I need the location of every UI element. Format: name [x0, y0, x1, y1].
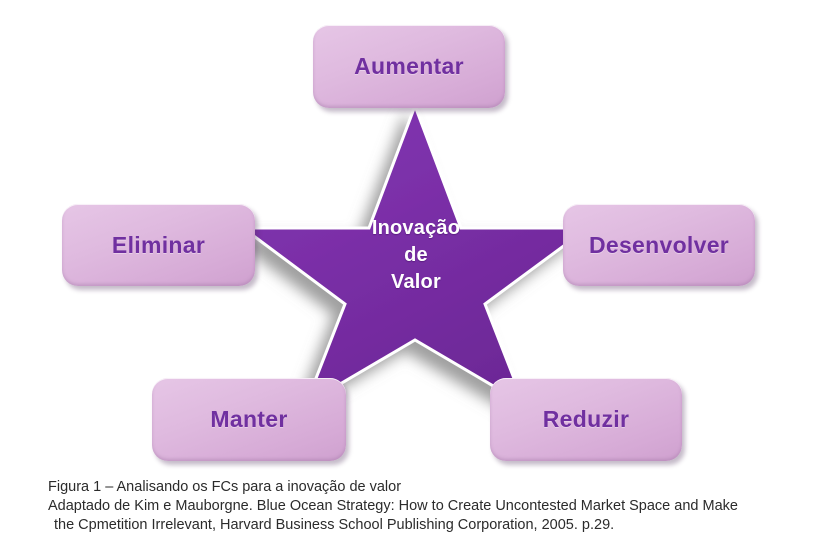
caption-line-source: Adaptado de Kim e Mauborgne. Blue Ocean … — [48, 497, 788, 516]
node-box-eliminar[interactable]: Eliminar — [62, 204, 255, 286]
node-box-manter[interactable]: Manter — [152, 378, 346, 461]
star-polygon — [243, 106, 588, 404]
node-label-desenvolver: Desenvolver — [589, 232, 729, 259]
diagram-canvas: Inovação de Valor Aumentar Eliminar Dese… — [0, 0, 814, 470]
node-label-reduzir: Reduzir — [543, 406, 629, 433]
caption-line-title: Figura 1 – Analisando os FCs para a inov… — [48, 478, 788, 497]
figure-container: Inovação de Valor Aumentar Eliminar Dese… — [0, 0, 814, 556]
node-label-manter: Manter — [210, 406, 287, 433]
five-pointed-star-shape — [243, 100, 588, 410]
figure-caption: Figura 1 – Analisando os FCs para a inov… — [48, 478, 788, 535]
caption-line-source-cont: the Cpmetition Irrelevant, Harvard Busin… — [48, 516, 788, 535]
node-box-aumentar[interactable]: Aumentar — [313, 25, 505, 108]
node-label-eliminar: Eliminar — [112, 232, 205, 259]
node-label-aumentar: Aumentar — [354, 53, 464, 80]
node-box-desenvolver[interactable]: Desenvolver — [563, 204, 755, 286]
node-box-reduzir[interactable]: Reduzir — [490, 378, 682, 461]
